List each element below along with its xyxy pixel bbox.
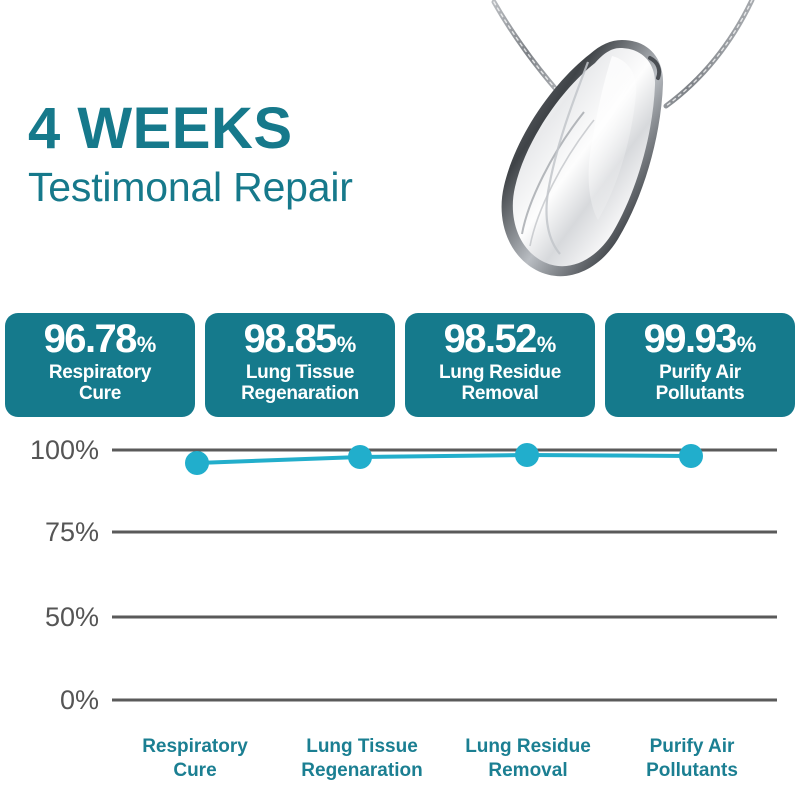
- stat-badge-label: Respiratory Cure: [49, 363, 151, 404]
- stat-badge: 98.85 % Lung Tissue Regenaration: [205, 313, 395, 417]
- x-axis-tick-label: Lung Tissue: [306, 736, 418, 757]
- stat-badge: 99.93 % Purify Air Pollutants: [605, 313, 795, 417]
- stat-badge-value-row: 99.93 %: [644, 319, 757, 359]
- x-axis-tick-label: Pollutants: [646, 760, 738, 781]
- stat-badge-label-line1: Lung Tissue: [241, 363, 359, 384]
- line-chart: 100% 75% 50% 0% Respiratory Cure Lung Ti…: [0, 425, 800, 800]
- data-point-marker[interactable]: [515, 443, 539, 467]
- y-axis-tick-label: 100%: [30, 435, 99, 465]
- stat-badge-label-line1: Lung Residue: [439, 363, 561, 384]
- stat-badge-value-row: 98.52 %: [444, 319, 557, 359]
- stat-badge-value: 96.78: [44, 319, 136, 359]
- data-point-marker[interactable]: [679, 444, 703, 468]
- x-axis-tick-label: Removal: [488, 760, 567, 781]
- stat-badge-value: 99.93: [644, 319, 736, 359]
- stat-badge-label: Purify Air Pollutants: [656, 363, 745, 404]
- stat-badge-label-line2: Pollutants: [656, 384, 745, 405]
- series-line: [197, 455, 691, 463]
- x-axis-tick-label: Regenaration: [301, 760, 422, 781]
- stat-badge-label: Lung Residue Removal: [439, 363, 561, 404]
- pendant-body: [502, 40, 663, 276]
- stat-badge-value-row: 98.85 %: [244, 319, 357, 359]
- chart-gridlines: [112, 450, 777, 700]
- x-axis-tick-label: Respiratory: [142, 736, 248, 757]
- stat-badge-row: 96.78 % Respiratory Cure 98.85 % Lung Ti…: [5, 313, 795, 417]
- x-axis-tick-label: Purify Air: [650, 736, 735, 757]
- data-point-marker[interactable]: [348, 445, 372, 469]
- x-axis-tick-label: Lung Residue: [465, 736, 591, 757]
- stat-badge-value-row: 96.78 %: [44, 319, 157, 359]
- data-point-marker[interactable]: [185, 451, 209, 475]
- stat-badge-value: 98.85: [244, 319, 336, 359]
- stat-badge-label: Lung Tissue Regenaration: [241, 363, 359, 404]
- stat-badge-label-line2: Cure: [49, 384, 151, 405]
- y-axis-tick-label: 0%: [60, 685, 99, 715]
- stat-badge-label-line1: Purify Air: [656, 363, 745, 384]
- page-subtitle: Testimonal Repair: [28, 166, 468, 209]
- stat-badge: 96.78 % Respiratory Cure: [5, 313, 195, 417]
- header: 4 WEEKS Testimonal Repair: [28, 100, 468, 209]
- stat-badge: 98.52 % Lung Residue Removal: [405, 313, 595, 417]
- y-axis-tick-labels: 100% 75% 50% 0%: [30, 435, 99, 715]
- y-axis-tick-label: 75%: [45, 517, 99, 547]
- percent-sign: %: [337, 334, 357, 356]
- stat-badge-label-line2: Regenaration: [241, 384, 359, 405]
- stat-badge-label-line2: Removal: [439, 384, 561, 405]
- percent-sign: %: [537, 334, 557, 356]
- x-axis-tick-labels: Respiratory Cure Lung Tissue Regenaratio…: [142, 736, 738, 781]
- pendant-product-image: [452, 0, 800, 296]
- y-axis-tick-label: 50%: [45, 602, 99, 632]
- percent-sign: %: [737, 334, 757, 356]
- page-title: 4 WEEKS: [28, 100, 468, 158]
- stat-badge-label-line1: Respiratory: [49, 363, 151, 384]
- stat-badge-value: 98.52: [444, 319, 536, 359]
- percent-sign: %: [137, 334, 157, 356]
- x-axis-tick-label: Cure: [173, 760, 216, 781]
